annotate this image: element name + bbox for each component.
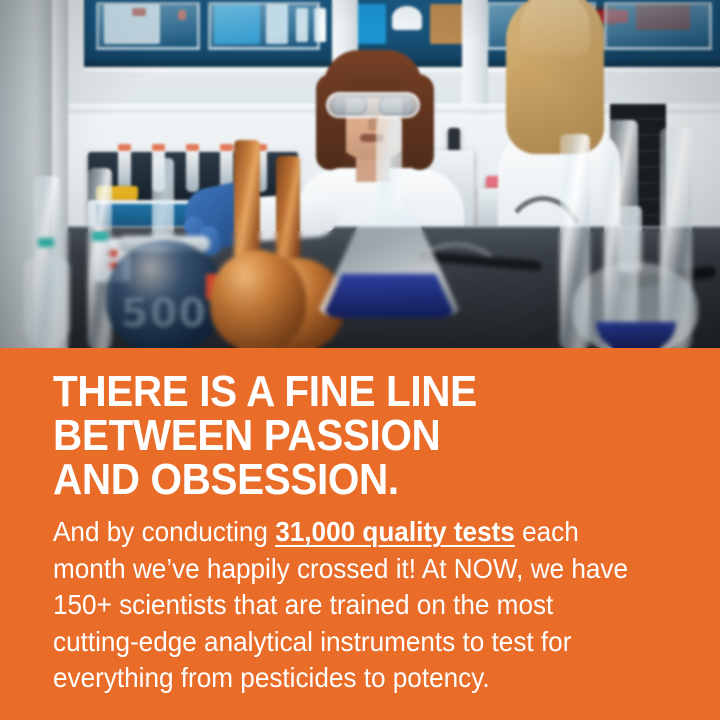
lab-photo: 500 [0, 0, 720, 348]
sample-vial-cap-2 [152, 144, 165, 151]
cabinet-glass-door-1 [96, 2, 200, 50]
cylinder-teal-band-1 [38, 238, 54, 247]
cabinet-item-jug [392, 6, 422, 30]
promo-card: 500 THERE IS A FINE LINE BETWEEN PASSION… [0, 0, 720, 720]
graduated-cylinder-left-base [24, 258, 70, 348]
quality-tests-highlight: 31,000 quality tests [275, 516, 515, 547]
graduated-cylinder-left-b [88, 168, 112, 348]
sample-vial-3 [186, 148, 199, 192]
safety-goggles [326, 92, 420, 118]
headline-line-2: BETWEEN PASSION [53, 414, 623, 458]
body-paragraph: And by conducting 31,000 quality tests e… [53, 514, 631, 697]
cylinder-teal-band-2 [92, 232, 108, 241]
orange-text-panel: THERE IS A FINE LINE BETWEEN PASSION AND… [0, 348, 720, 720]
cabinet-glass-door-4 [604, 2, 712, 50]
amber-flask-front [210, 250, 306, 348]
sample-vial-cap-1 [118, 144, 131, 151]
flask-volume-label: 500 [112, 294, 216, 334]
body-text-before: And by conducting [53, 516, 275, 547]
amber-flask-front-neck [234, 140, 260, 262]
center-scientist-hair-right [402, 74, 434, 170]
headline-line-1: THERE IS A FINE LINE [53, 370, 623, 414]
cabinet-glass-door-2 [208, 2, 320, 50]
round-flask-right-liquid [596, 322, 676, 348]
amber-flask-rear-neck [276, 156, 300, 268]
sample-vial-cap-4 [220, 144, 233, 151]
sample-vial-cap-3 [186, 144, 199, 151]
center-scientist-hair-left [316, 74, 346, 170]
headline: THERE IS A FINE LINE BETWEEN PASSION AND… [53, 370, 623, 502]
right-scientist-hair-crown [520, 0, 590, 56]
headline-line-3: AND OBSESSION. [53, 458, 623, 502]
cabinet-pillar-right [462, 0, 488, 114]
erlenmeyer-liquid [322, 274, 456, 318]
